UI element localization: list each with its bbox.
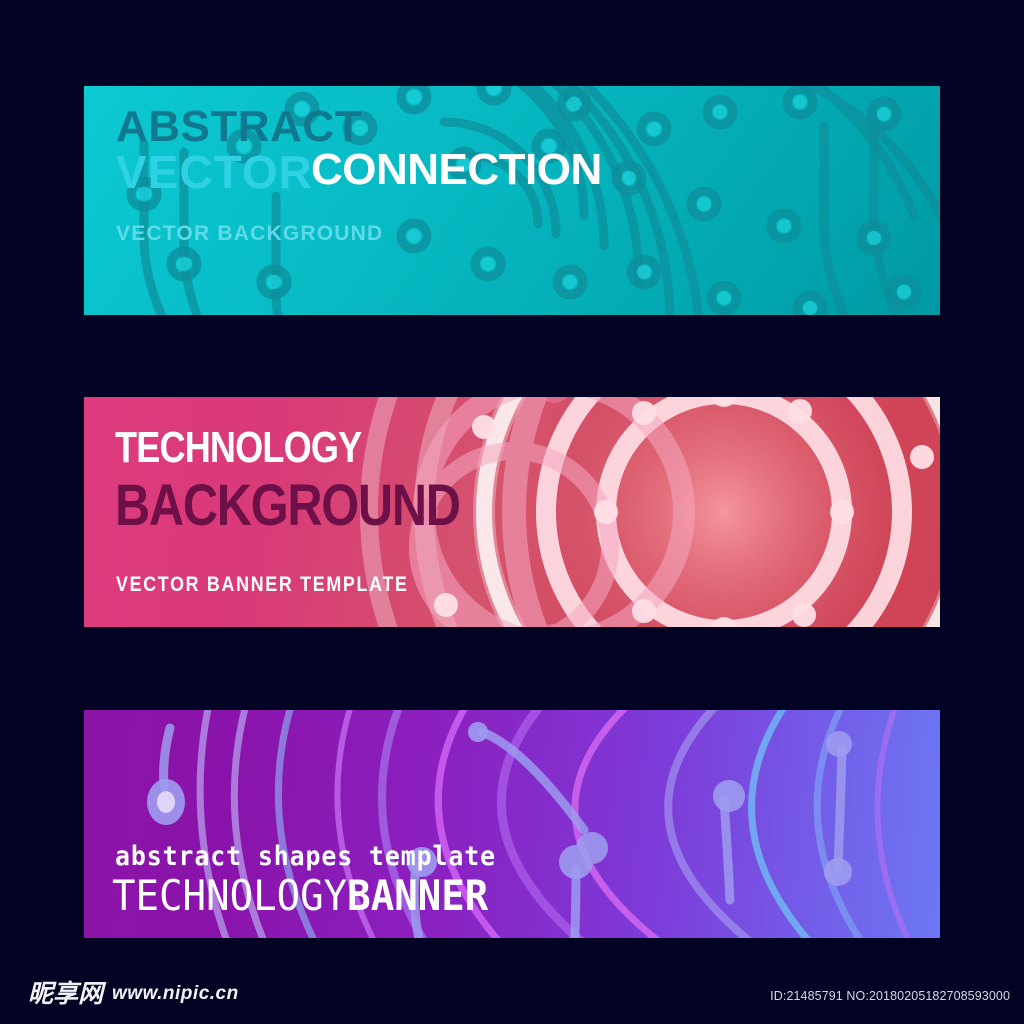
banner-purple-copy: abstract shapes template TECHNOLOGYBANNE… — [84, 710, 940, 938]
banner-teal-headline-accent: VECTOR — [116, 149, 313, 195]
banner-teal-headline-muted: ABSTRACT — [116, 105, 362, 149]
banner-purple-technology-banner[interactable]: abstract shapes template TECHNOLOGYBANNE… — [84, 710, 940, 938]
footer-id-text: ID:21485791 NO:20180205182708593000 — [770, 989, 1010, 1003]
banner-pink-headline-dark: BACKGROUND — [115, 477, 460, 535]
banner-teal-copy: ABSTRACT VECTOR CONNECTION VECTOR BACKGR… — [84, 86, 940, 315]
banner-teal-headline-white: CONNECTION — [311, 148, 602, 192]
watermark: 昵享网 www.nipic.cn — [28, 981, 239, 1006]
banner-pink-technology-background[interactable]: TECHNOLOGY BACKGROUND VECTOR BANNER TEMP… — [84, 397, 940, 627]
banner-teal-connection[interactable]: ABSTRACT VECTOR CONNECTION VECTOR BACKGR… — [84, 86, 940, 315]
banner-purple-headline-light: TECHNOLOGY — [112, 871, 347, 920]
banner-pink-copy: TECHNOLOGY BACKGROUND VECTOR BANNER TEMP… — [84, 397, 940, 627]
watermark-logo-text: 昵享网 — [28, 981, 103, 1006]
banner-teal-subtitle: VECTOR BACKGROUND — [116, 223, 383, 244]
banner-pink-headline-white: TECHNOLOGY — [115, 426, 361, 470]
banner-purple-headline: TECHNOLOGYBANNER — [112, 875, 488, 917]
poster-canvas: ABSTRACT VECTOR CONNECTION VECTOR BACKGR… — [0, 0, 1024, 1024]
banner-purple-subtitle: abstract shapes template — [115, 843, 496, 870]
footer-bar: 昵享网 www.nipic.cn ID:21485791 NO:20180205… — [0, 958, 1024, 1024]
watermark-url-text: www.nipic.cn — [112, 984, 239, 1003]
banner-pink-subtitle: VECTOR BANNER TEMPLATE — [116, 574, 409, 595]
banner-purple-headline-bold: BANNER — [347, 871, 488, 920]
